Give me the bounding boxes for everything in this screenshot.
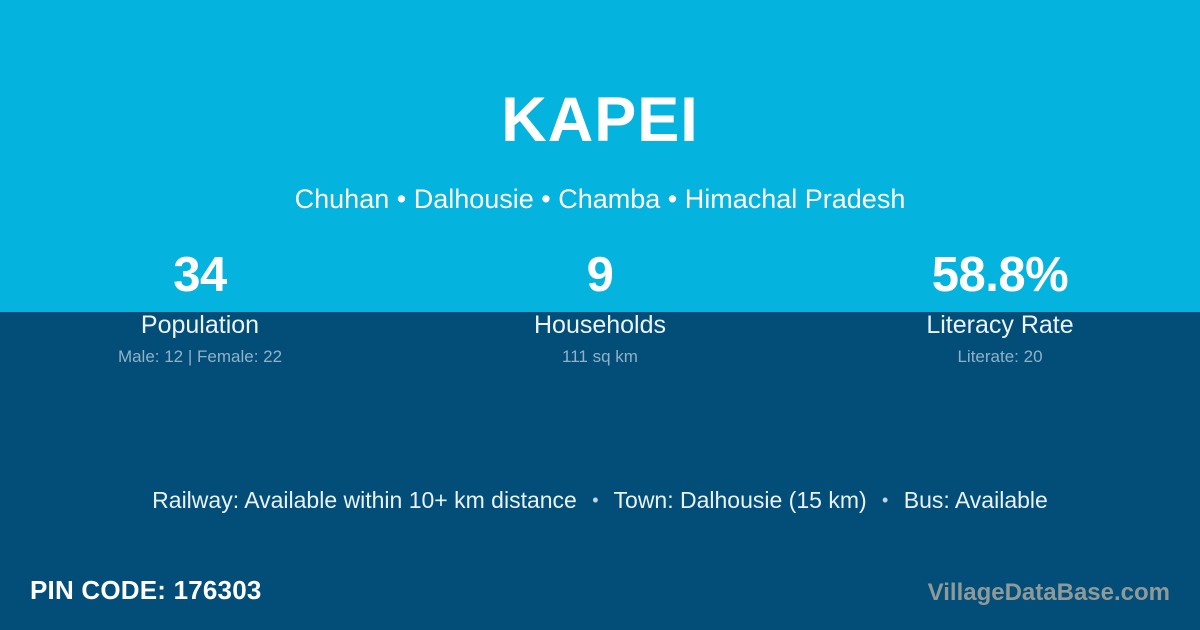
railway-info: Railway: Available within 10+ km distanc… [152, 487, 577, 513]
transport-info: Railway: Available within 10+ km distanc… [0, 485, 1200, 515]
households-label: Households [400, 310, 800, 340]
literate-count: Literate: 20 [800, 346, 1200, 367]
stat-households: 9 Households 111 sq km [400, 246, 800, 367]
town-info: Town: Dalhousie (15 km) [614, 487, 867, 513]
bus-info: Bus: Available [904, 487, 1048, 513]
stat-literacy-rate: 58.8% Literacy Rate Literate: 20 [800, 246, 1200, 367]
pin-code: PIN CODE: 176303 [30, 574, 262, 606]
literacy-rate-value: 58.8% [800, 246, 1200, 304]
literacy-rate-label: Literacy Rate [800, 310, 1200, 340]
site-branding: VillageDataBase.com [928, 578, 1170, 608]
area-value: 111 sq km [400, 346, 800, 367]
stats-row: 34 Population Male: 12 | Female: 22 9 Ho… [0, 246, 1200, 367]
stat-population: 34 Population Male: 12 | Female: 22 [0, 246, 400, 367]
bullet-separator-icon: • [583, 485, 607, 515]
breadcrumb: Chuhan • Dalhousie • Chamba • Himachal P… [0, 183, 1200, 216]
population-value: 34 [0, 246, 400, 304]
population-label: Population [0, 310, 400, 340]
page-title: KAPEI [0, 82, 1200, 158]
households-value: 9 [400, 246, 800, 304]
village-info-card: KAPEI Chuhan • Dalhousie • Chamba • Hima… [0, 0, 1200, 630]
population-breakdown: Male: 12 | Female: 22 [0, 346, 400, 367]
bullet-separator-icon: • [873, 485, 897, 515]
